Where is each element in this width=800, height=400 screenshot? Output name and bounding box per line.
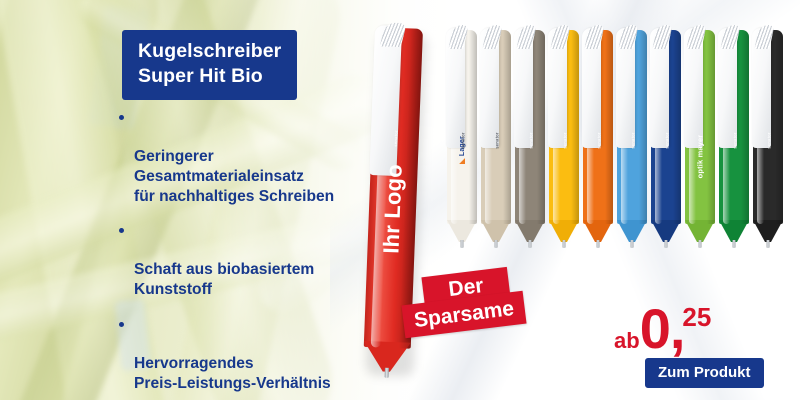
pen-clip [446, 28, 465, 148]
pen-tip [384, 368, 388, 378]
bullet-dot-icon [119, 322, 124, 327]
brand-mark: senator [732, 132, 737, 149]
price-prefix: ab [614, 328, 640, 353]
pen-clip [582, 28, 601, 148]
promo-banner: Kugelschreiber Super Hit Bio Geringerer … [0, 0, 800, 400]
price-amount: 0, [640, 297, 685, 360]
zum-produkt-button[interactable]: Zum Produkt [645, 358, 764, 388]
feature-text: Hervorragendes Preis-Leistungs-Verhältni… [134, 355, 331, 392]
pen-clip [718, 28, 737, 148]
pen-tip [699, 240, 702, 248]
pen-tip [733, 240, 736, 248]
pen-clip [684, 28, 703, 148]
pen-green: senator [719, 30, 749, 248]
hero-pen-logo-text: Ihr Logo [378, 164, 407, 255]
pen-yellow: senator [549, 30, 579, 248]
pen-white: ◣ Lager senator [447, 30, 477, 248]
brand-mark: senator [596, 132, 601, 149]
pen-orange: senator [583, 30, 613, 248]
pen-dark-blue: senator [651, 30, 681, 248]
pen-black: senator [753, 30, 783, 248]
feature-list: Geringerer Gesamtmaterialeinsatz für nac… [118, 108, 380, 393]
pen-tip [529, 240, 532, 248]
pen-imprint-logo: optik mayer [696, 135, 705, 179]
pen-light-blue: senator [617, 30, 647, 248]
brand-mark: senator [562, 132, 567, 149]
pen-clip [752, 28, 771, 148]
pen-tip [563, 240, 566, 248]
list-item: Hervorragendes Preis-Leistungs-Verhältni… [118, 315, 380, 394]
pen-clip [548, 28, 567, 148]
pen-light-green: optik mayer [685, 30, 715, 248]
pen-tip [767, 240, 770, 248]
price-block: ab0,25 [614, 296, 713, 361]
list-item: Schaft aus biobasiertem Kunststoff [118, 221, 380, 300]
pen-tip [495, 240, 498, 248]
bullet-dot-icon [119, 115, 124, 120]
pen-clip [514, 28, 533, 148]
price-cents: 25 [682, 302, 711, 332]
brand-mark: senator [664, 132, 669, 149]
brand-mark: senator [460, 132, 465, 149]
pen-tip [631, 240, 634, 248]
bullet-dot-icon [119, 228, 124, 233]
brand-mark: senator [766, 132, 771, 149]
pen-taupe: senator [515, 30, 545, 248]
feature-text: Geringerer Gesamtmaterialeinsatz für nac… [134, 148, 334, 204]
brand-mark: senator [630, 132, 635, 149]
brand-mark: senator [494, 132, 499, 149]
pen-tip [597, 240, 600, 248]
pen-clip [616, 28, 635, 148]
pen-beige: senator [481, 30, 511, 248]
product-title-badge: Kugelschreiber Super Hit Bio [122, 30, 297, 100]
pen-tip [461, 240, 464, 248]
list-item: Geringerer Gesamtmaterialeinsatz für nac… [118, 108, 380, 206]
brand-mark: senator [528, 132, 533, 149]
pen-clip [480, 28, 499, 148]
feature-text: Schaft aus biobasiertem Kunststoff [134, 261, 314, 298]
pen-clip [650, 28, 669, 148]
pen-tip [665, 240, 668, 248]
